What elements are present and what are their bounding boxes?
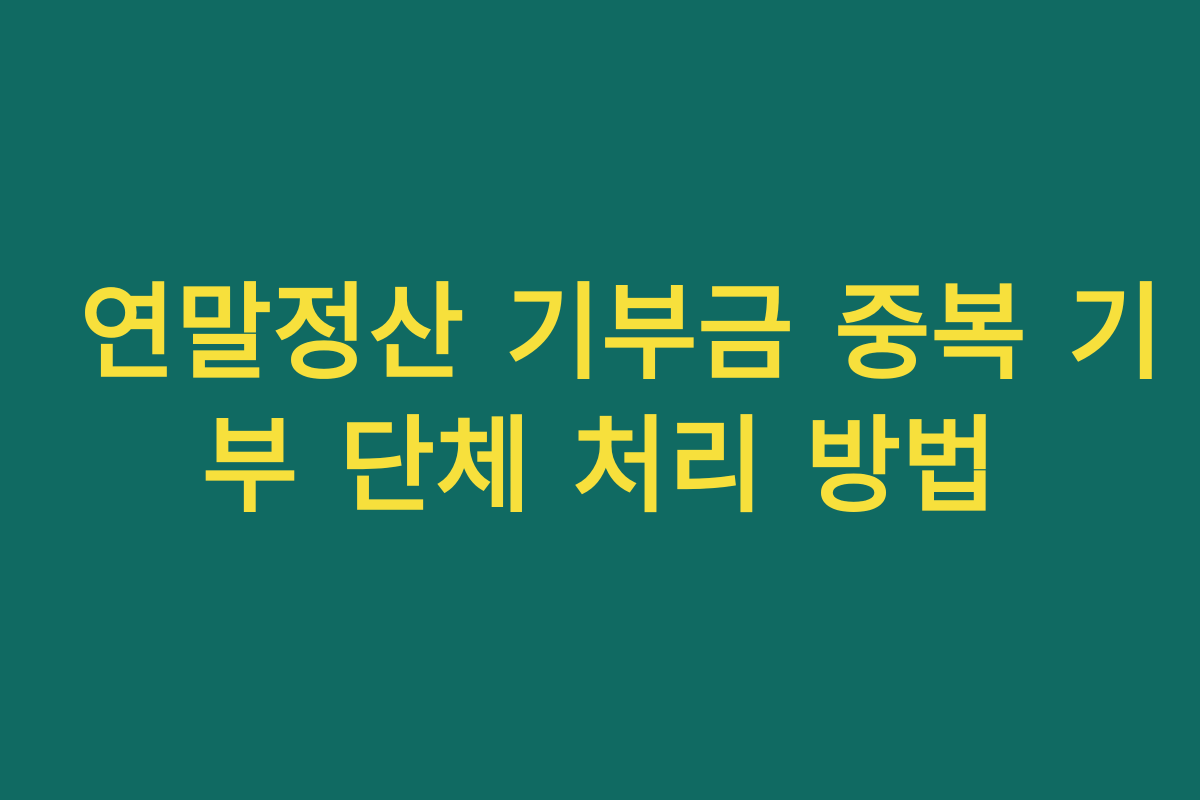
page-title-line-2: 부 단체 처리 방법 (80, 400, 1120, 533)
headline-block: 연말정산 기부금 중복 기 부 단체 처리 방법 (80, 267, 1120, 533)
page-title: 연말정산 기부금 중복 기 부 단체 처리 방법 (80, 267, 1120, 533)
page-title-line-1: 연말정산 기부금 중복 기 (80, 267, 1120, 400)
title-banner: 연말정산 기부금 중복 기 부 단체 처리 방법 (0, 0, 1200, 800)
